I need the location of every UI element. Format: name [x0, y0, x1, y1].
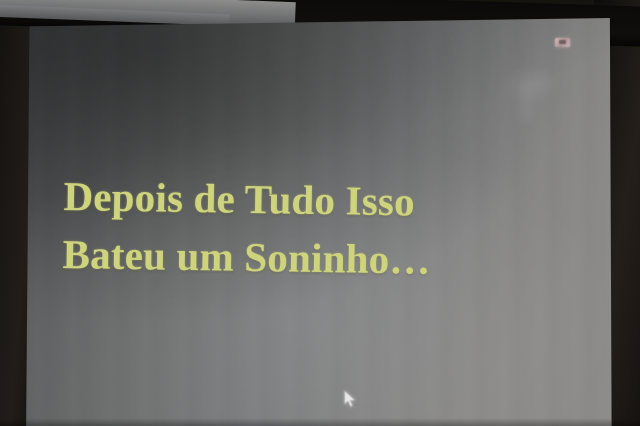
mouse-cursor-icon[interactable]: [344, 390, 357, 408]
slide-text-block: Depois de Tudo Isso Bateu um Soninho…: [62, 168, 594, 290]
photo-bottom-shadow: [0, 418, 640, 426]
projection-screen-area: Depois de Tudo Isso Bateu um Soninho…: [0, 0, 640, 426]
projection-screen: Depois de Tudo Isso Bateu um Soninho…: [26, 18, 614, 426]
screen-smudge: [494, 60, 566, 124]
screen-reflection-mark: [555, 38, 570, 47]
slide-title-line-2: Bateu um Soninho…: [62, 226, 593, 290]
projected-slide-photo: Depois de Tudo Isso Bateu um Soninho…: [0, 0, 640, 426]
slide-title-line-1: Depois de Tudo Isso: [63, 168, 594, 232]
